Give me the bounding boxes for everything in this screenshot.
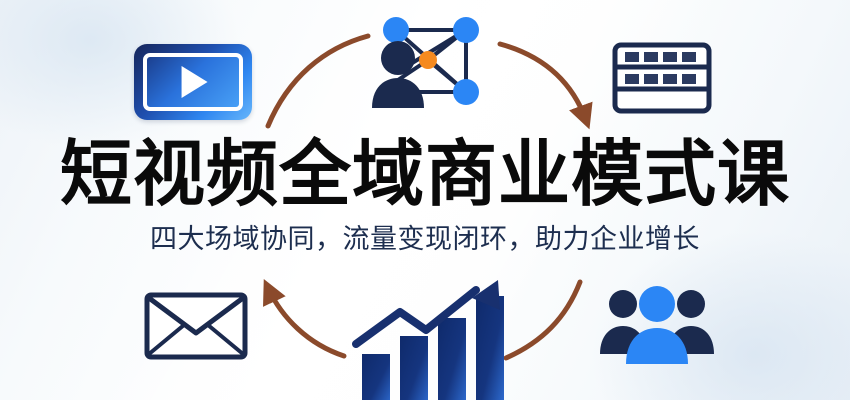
bar-3 xyxy=(438,318,466,400)
video-play-icon xyxy=(134,44,252,120)
network-node-center xyxy=(419,51,437,69)
course-banner: 短视频全域商业模式课 四大场域协同，流量变现闭环，助力企业增长 xyxy=(0,0,850,400)
server-rack-icon xyxy=(612,42,712,114)
network-user-icon xyxy=(368,8,488,112)
title-block: 短视频全域商业模式课 四大场域协同，流量变现闭环，助力企业增长 xyxy=(0,136,850,256)
bar-4 xyxy=(476,296,504,400)
network-node-top-left xyxy=(383,17,409,43)
bar-1 xyxy=(362,354,390,400)
people-group-icon xyxy=(598,282,716,366)
page-title: 短视频全域商业模式课 xyxy=(0,136,850,212)
growth-chart-icon xyxy=(348,276,518,400)
arc-top-right-path xyxy=(500,44,586,120)
arc-bottom-left-path xyxy=(268,288,344,356)
play-triangle-icon xyxy=(182,66,208,98)
page-subtitle: 四大场域协同，流量变现闭环，助力企业增长 xyxy=(0,224,850,256)
user-silhouette xyxy=(372,41,424,108)
video-frame xyxy=(134,44,252,120)
video-screen xyxy=(143,53,243,111)
network-node-top-right xyxy=(453,17,479,43)
mail-envelope-icon xyxy=(144,292,248,360)
arc-top-left-path xyxy=(268,36,368,126)
network-node-bottom-right xyxy=(453,79,479,105)
bar-2 xyxy=(400,336,428,400)
